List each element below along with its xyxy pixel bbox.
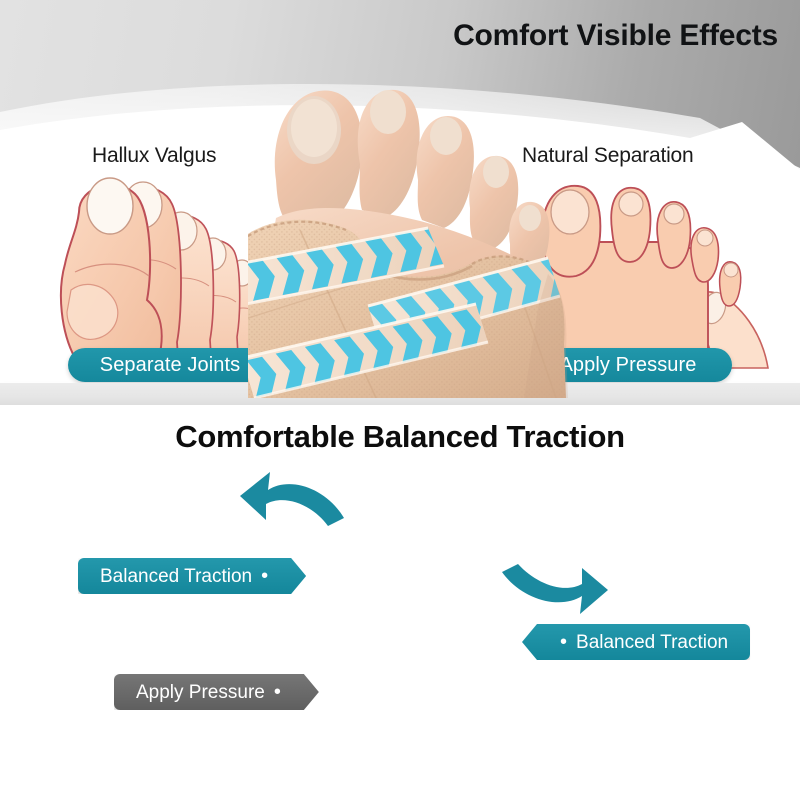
traction-title: Comfortable Balanced Traction (0, 419, 800, 455)
apply-pressure-tag[interactable]: Apply Pressure • (114, 674, 319, 710)
foot-with-corrector-photo (248, 68, 596, 398)
infographic-page: Comfort Visible Effects Hallux Valgus Na… (0, 0, 800, 800)
bullet-dot-icon: • (261, 566, 268, 586)
traction-panel: Comfortable Balanced Traction (0, 405, 800, 800)
hallux-valgus-label: Hallux Valgus (92, 144, 216, 168)
separate-joints-badge[interactable]: Separate Joints (68, 348, 272, 382)
balanced-traction-left-label: Balanced Traction (100, 567, 252, 586)
bullet-dot-icon: • (560, 632, 567, 652)
curved-arrow-up-left-icon (240, 466, 350, 532)
balanced-traction-tag-left[interactable]: Balanced Traction • (78, 558, 306, 594)
bullet-dot-icon: • (274, 682, 281, 702)
page-title: Comfort Visible Effects (453, 19, 778, 53)
balanced-traction-right-label: Balanced Traction (576, 633, 728, 652)
curved-arrow-down-right-icon (498, 562, 608, 626)
separate-joints-label: Separate Joints (100, 354, 240, 377)
balanced-traction-tag-right[interactable]: • Balanced Traction (522, 624, 750, 660)
apply-pressure-tag-label: Apply Pressure (136, 683, 265, 702)
